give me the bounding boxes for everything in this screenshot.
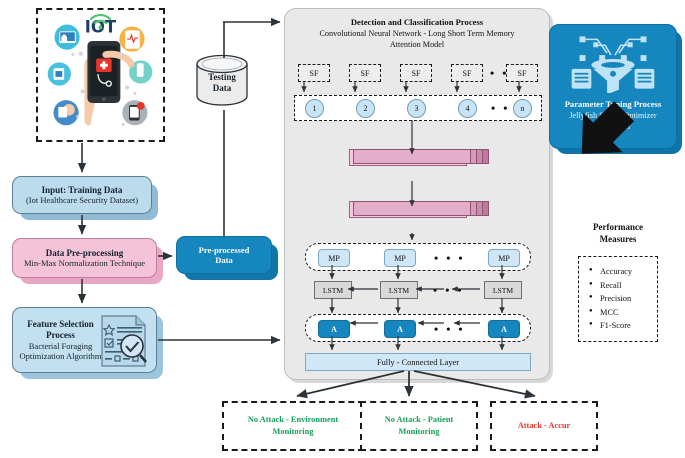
maxpool-box-2: MP: [384, 249, 416, 267]
panel-subtitle-line1: Convolutional Neural Network - Long Shor…: [319, 29, 514, 38]
output-no-attack-environment: No Attack - Environment Monitoring: [222, 401, 364, 451]
conv1d-layer-1: 1D Convolution: [349, 149, 475, 167]
attention-band: A A • • • A: [305, 314, 531, 342]
testing-data-line2: Data: [194, 83, 250, 94]
output-attack-occur: Attack - Accur: [490, 401, 598, 451]
attention-box-n: A: [488, 320, 520, 338]
performance-item-precision: Precision: [589, 292, 657, 306]
feature-node-1: 1: [305, 99, 324, 118]
panel-subtitle-line2: Attention Model: [390, 40, 444, 49]
parameter-tuning-line2: Algorithm: [596, 122, 630, 131]
parameter-tuning-card: Parameter Tuning Process Jellyfish Searc…: [549, 24, 677, 149]
testing-data-cylinder: Testing Data: [194, 52, 250, 108]
sf-box-3: SF: [400, 64, 432, 82]
data-funnel-icon: [550, 31, 676, 93]
feature-node-n: n: [513, 99, 532, 118]
output-no-attack-patient: No Attack - Patient Monitoring: [360, 401, 478, 451]
input-training-data-box: Input: Training Data (Iot Healthcare Sec…: [12, 176, 152, 214]
input-box-subtitle: (Iot Healthcare Security Dataset): [26, 195, 138, 205]
performance-measures-list: Accuracy Recall Precision MCC F1-Score: [578, 256, 658, 342]
parameter-tuning-title: Parameter Tuning Process: [550, 99, 676, 109]
conv1d-layer-2: 1D Convolution: [349, 201, 475, 219]
maxpool-box-1: MP: [318, 249, 350, 267]
detection-classification-panel: Detection and Classification Process Con…: [284, 8, 550, 380]
iot-healthcare-illustration: IOT: [38, 10, 163, 140]
feature-line2: Bacterial Foraging: [29, 341, 93, 351]
testing-data-line1: Testing: [194, 72, 250, 83]
feature-selection-box: Feature Selection Process Bacterial Fora…: [12, 307, 157, 373]
lstm-ellipsis: • • •: [433, 283, 464, 298]
attention-box-1: A: [318, 320, 350, 338]
checklist-magnifier-icon: [98, 314, 150, 368]
preprocessing-subtitle: Min-Max Normalization Technique: [24, 258, 145, 268]
feature-node-2: 2: [356, 99, 375, 118]
panel-title: Detection and Classification Process: [285, 17, 549, 27]
performance-title-line2: Measures: [600, 234, 637, 244]
feature-title: Feature Selection Process: [13, 319, 108, 340]
attention-box-2: A: [384, 320, 416, 338]
feature-node-4: 4: [458, 99, 477, 118]
preprocessing-title: Data Pre-processing: [46, 248, 123, 259]
performance-measures-title: Performance Measures: [570, 222, 666, 245]
lstm-row: LSTM LSTM • • • LSTM: [305, 281, 531, 301]
preprocessed-line2: Data: [215, 255, 232, 265]
feature-node-3: 3: [407, 99, 426, 118]
sf-box-n: SF: [506, 64, 538, 82]
lstm-box-2: LSTM: [380, 281, 418, 299]
performance-item-f1: F1-Score: [589, 319, 657, 333]
sf-box-1: SF: [298, 64, 330, 82]
diagram-canvas: IOT Input: Training Data (Iot Healthcare…: [0, 0, 685, 458]
maxpool-ellipsis: • • •: [434, 251, 465, 266]
feature-nodes-band: 1 2 3 4 • • • n: [294, 95, 542, 121]
parameter-tuning-subtitle: Jellyfish Search Optimizer Algorithm: [550, 111, 676, 132]
feature-line3: Optimization Algorithm: [20, 351, 102, 361]
iot-healthcare-panel: IOT: [36, 8, 165, 142]
performance-item-mcc: MCC: [589, 306, 657, 320]
preprocessed-line1: Pre-processed: [199, 245, 250, 255]
performance-title-line1: Performance: [593, 222, 643, 232]
sf-box-4: SF: [451, 64, 483, 82]
lstm-box-1: LSTM: [314, 281, 352, 299]
performance-item-accuracy: Accuracy: [589, 265, 657, 279]
attention-ellipsis: • • •: [434, 322, 465, 337]
panel-subtitle: Convolutional Neural Network - Long Shor…: [285, 29, 549, 50]
input-box-title: Input: Training Data: [42, 185, 123, 196]
lstm-box-n: LSTM: [484, 281, 522, 299]
performance-item-recall: Recall: [589, 279, 657, 293]
sf-box-2: SF: [349, 64, 381, 82]
maxpooling-band: MP MP • • • MP: [305, 243, 531, 271]
parameter-tuning-line1: Jellyfish Search Optimizer: [569, 111, 656, 120]
fully-connected-layer: Fully - Connected Layer: [305, 353, 531, 371]
selected-features-row: SF SF SF SF • • • SF: [294, 64, 542, 84]
preprocessed-data-box: Pre-processed Data: [176, 236, 272, 274]
maxpool-box-n: MP: [488, 249, 520, 267]
data-preprocessing-box: Data Pre-processing Min-Max Normalizatio…: [12, 238, 157, 278]
